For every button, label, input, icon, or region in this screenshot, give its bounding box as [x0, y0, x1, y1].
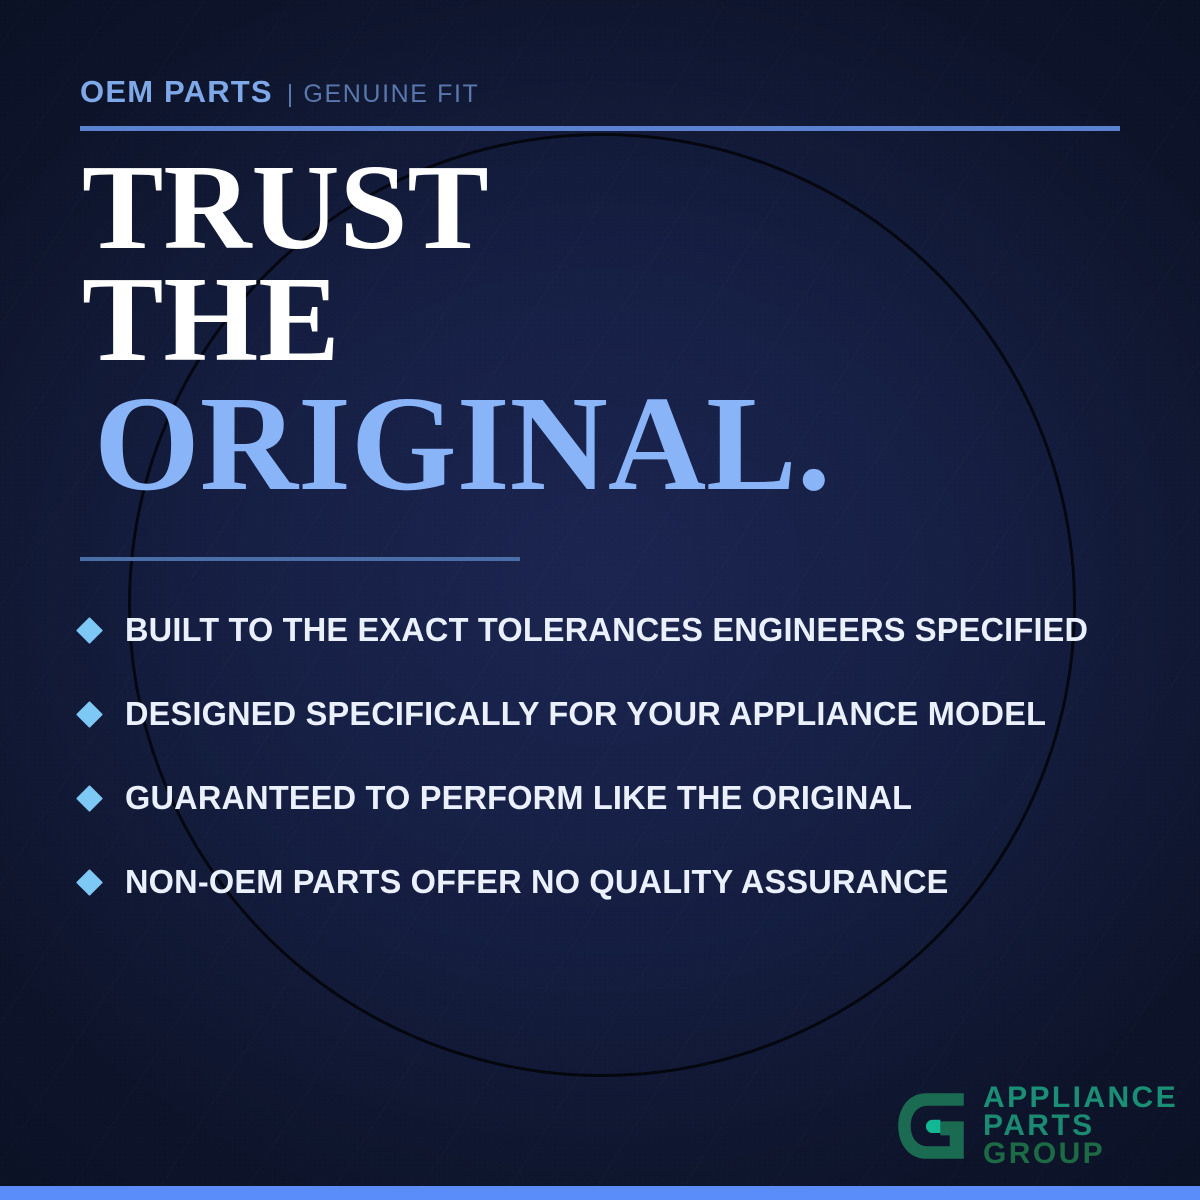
eyebrow-sub-text: | GENUINE FIT [287, 80, 480, 109]
list-item: NON-OEM PARTS OFFER NO QUALITY ASSURANCE [80, 840, 1140, 924]
list-item: GUARANTEED TO PERFORM LIKE THE ORIGINAL [80, 756, 1140, 840]
promo-poster: OEM PARTS | GENUINE FIT TRUST THE ORIGIN… [0, 0, 1200, 1200]
eyebrow-header: OEM PARTS | GENUINE FIT [80, 74, 479, 110]
diamond-bullet-icon [76, 869, 103, 896]
logo-word-parts: PARTS [983, 1112, 1178, 1140]
list-item: DESIGNED SPECIFICALLY FOR YOUR APPLIANCE… [80, 672, 1140, 756]
headline-line-2: THE [82, 264, 831, 376]
diamond-bullet-icon [76, 785, 103, 812]
headline-line-1: TRUST [82, 152, 831, 264]
list-item: BUILT TO THE EXACT TOLERANCES ENGINEERS … [80, 588, 1140, 672]
list-item-label: BUILT TO THE EXACT TOLERANCES ENGINEERS … [125, 611, 1088, 649]
list-item-label: NON-OEM PARTS OFFER NO QUALITY ASSURANCE [125, 863, 949, 901]
list-item-label: DESIGNED SPECIFICALLY FOR YOUR APPLIANCE… [125, 695, 1046, 733]
logo-word-appliance: APPLIANCE [983, 1084, 1178, 1112]
page-title: TRUST THE ORIGINAL. [82, 152, 831, 508]
header-divider-rule [80, 126, 1120, 131]
benefits-list: BUILT TO THE EXACT TOLERANCES ENGINEERS … [80, 588, 1140, 924]
brand-logo: APPLIANCE PARTS GROUP [892, 1084, 1178, 1168]
headline-line-3: ORIGINAL. [94, 380, 831, 508]
logo-word-group: GROUP [983, 1140, 1178, 1168]
list-item-label: GUARANTEED TO PERFORM LIKE THE ORIGINAL [125, 779, 912, 817]
diamond-bullet-icon [76, 701, 103, 728]
diamond-bullet-icon [76, 617, 103, 644]
headline-divider-rule [80, 557, 520, 561]
appliance-parts-group-g-mark-icon [892, 1087, 970, 1165]
eyebrow-main-text: OEM PARTS [80, 74, 273, 110]
bottom-accent-bar [0, 1186, 1200, 1200]
logo-wordmark: APPLIANCE PARTS GROUP [983, 1084, 1178, 1168]
